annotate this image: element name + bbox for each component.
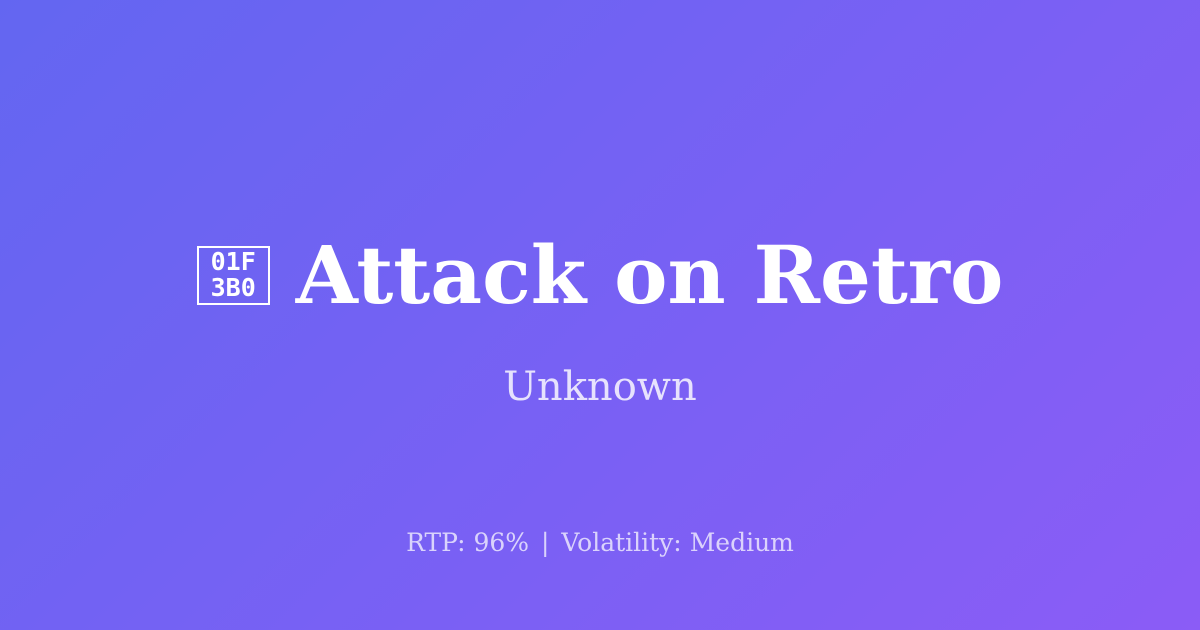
codepoint-line-1: 01F <box>211 249 256 275</box>
volatility-label: Volatility: <box>561 528 681 557</box>
volatility-value: Medium <box>690 528 794 557</box>
game-provider-subtitle: Unknown <box>0 363 1200 411</box>
meta-separator: | <box>537 528 553 557</box>
codepoint-line-2: 3B0 <box>211 275 256 301</box>
rtp-label: RTP: <box>406 528 465 557</box>
slot-machine-emoji-icon: 01F 3B0 <box>197 246 270 305</box>
page-title: Attack on Retro <box>296 231 1004 319</box>
game-stats-line: RTP: 96% | Volatility: Medium <box>0 527 1200 558</box>
game-preview-card: 01F 3B0 Attack on Retro Unknown RTP: 96%… <box>0 0 1200 630</box>
rtp-value: 96% <box>473 528 529 557</box>
title-row: 01F 3B0 Attack on Retro <box>0 231 1200 319</box>
